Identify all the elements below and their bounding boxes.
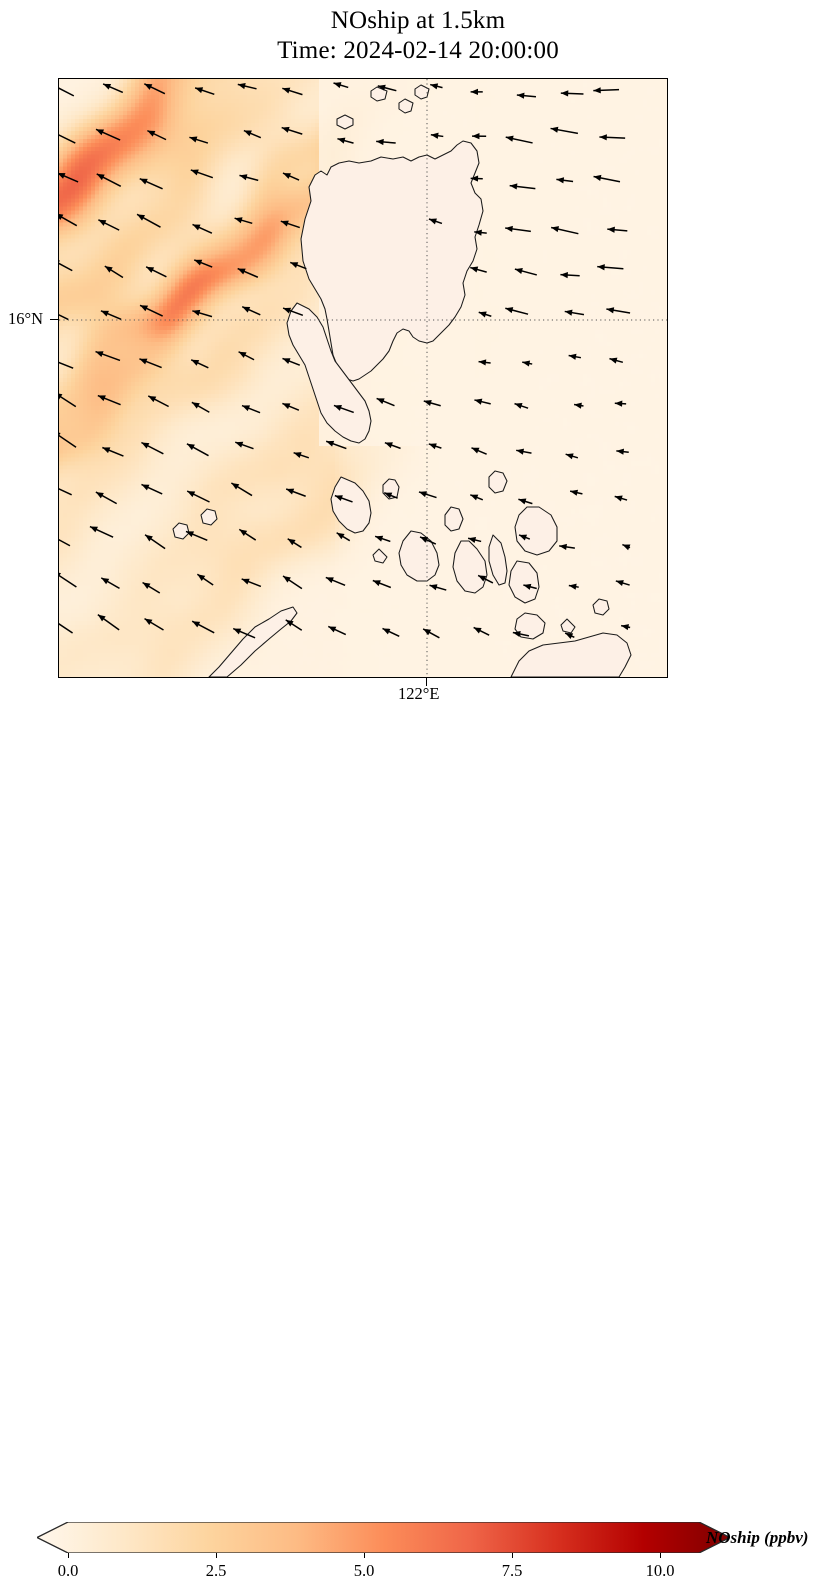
colorbar-tick-mark — [512, 1553, 513, 1558]
lat-tick-mark — [50, 319, 58, 320]
colorbar-tick-mark — [660, 1553, 661, 1558]
colorbar-gradient-bar[interactable] — [37, 1522, 730, 1553]
colorbar-tick-mark — [364, 1553, 365, 1558]
title-time-line: Time: 2024-02-14 20:00:00 — [0, 36, 836, 66]
colorbar-tick-label: 0.0 — [58, 1561, 79, 1581]
colorbar[interactable]: NOship (ppbv) 0.02.55.07.510.0 — [0, 756, 836, 839]
wind-vector-layer — [59, 79, 667, 677]
lon-tick-label-122e: 122°E — [398, 684, 439, 704]
map-plot-area[interactable] — [58, 78, 668, 678]
lat-tick-label-16n: 16°N — [8, 309, 43, 329]
colorbar-tick-label: 5.0 — [354, 1561, 375, 1581]
colorbar-tick-mark — [216, 1553, 217, 1558]
colorbar-tick-label: 2.5 — [206, 1561, 227, 1581]
colorbar-tick-mark — [68, 1553, 69, 1558]
colorbar-tick-label: 10.0 — [646, 1561, 675, 1581]
title-variable-line: NOship at 1.5km — [0, 6, 836, 36]
colorbar-tick-label: 7.5 — [502, 1561, 523, 1581]
map-inner — [59, 79, 667, 677]
colorbar-label: NOship (ppbv) — [706, 1528, 808, 1548]
figure-title: NOship at 1.5km Time: 2024-02-14 20:00:0… — [0, 6, 836, 65]
